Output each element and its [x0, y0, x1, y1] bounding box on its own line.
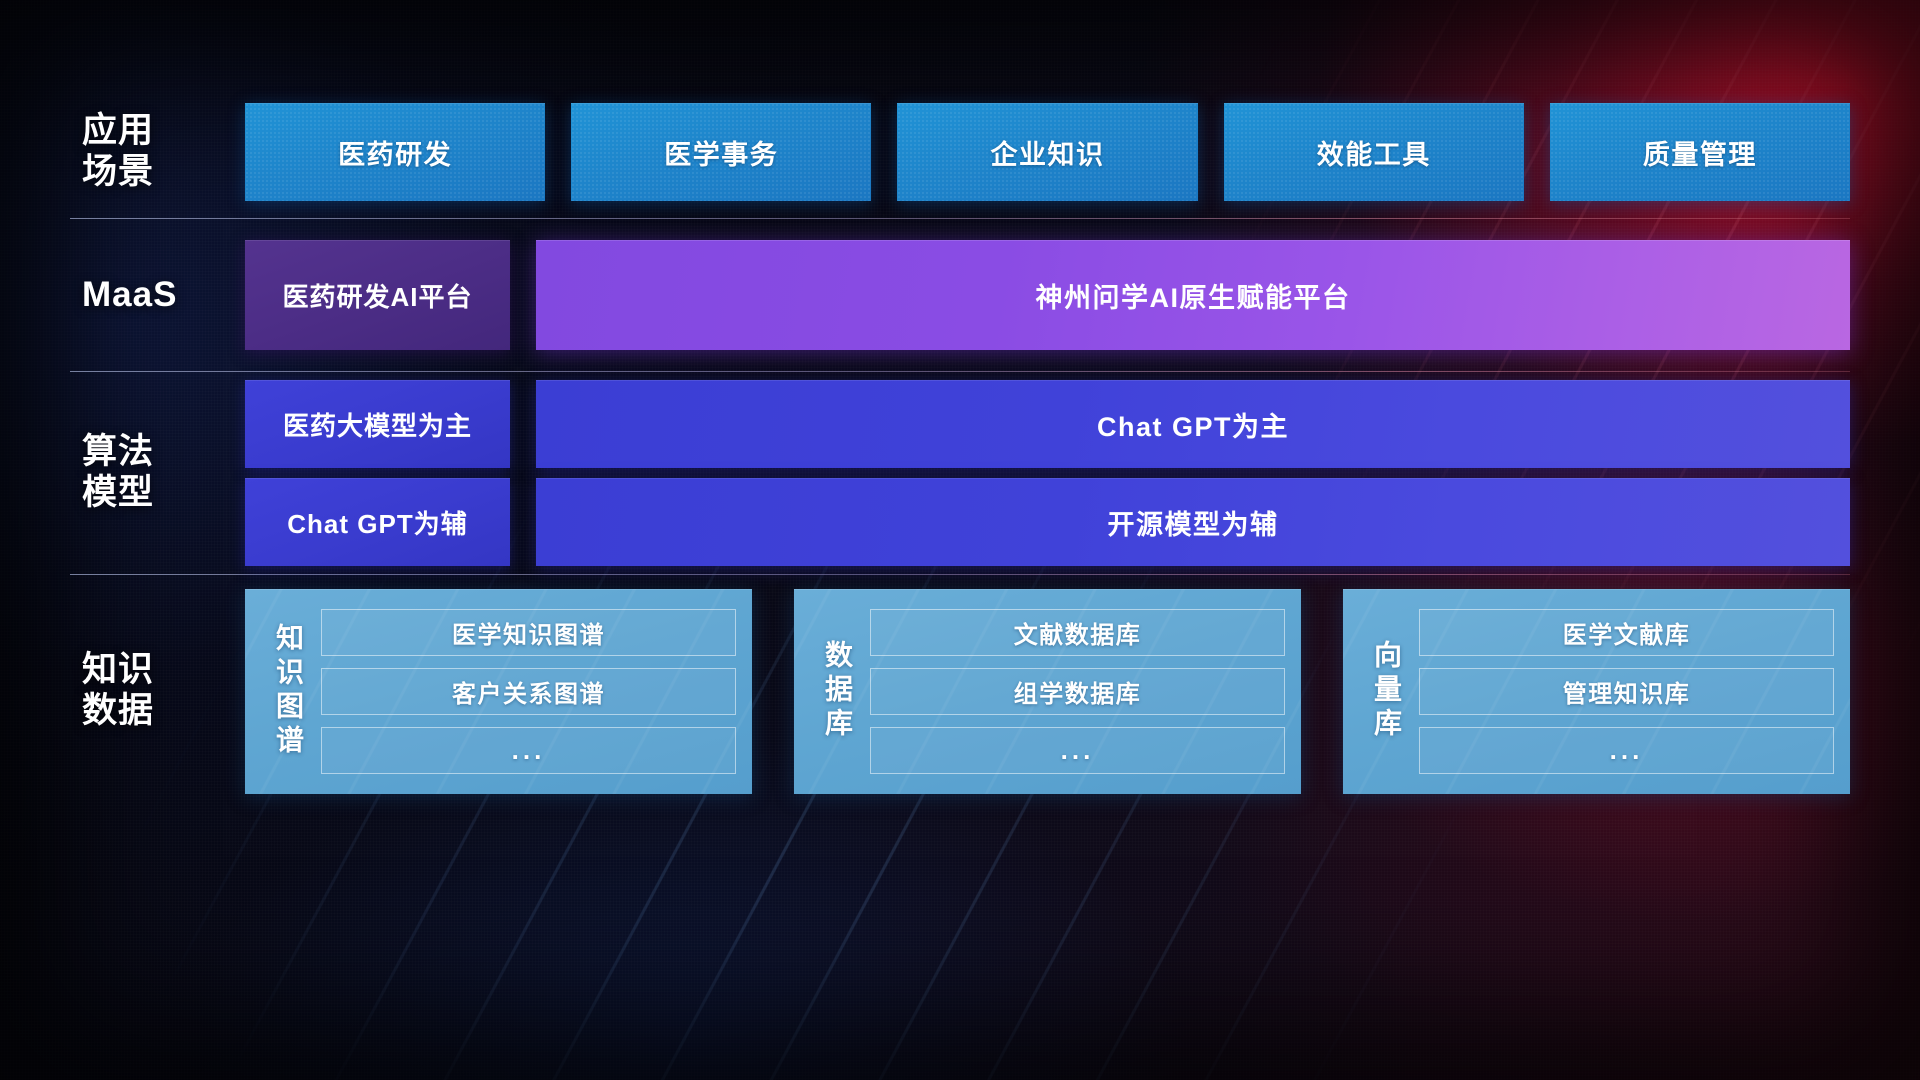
row-algorithm-model: 算法 模型 医药大模型为主 Chat GPT为主 Chat GPT为辅 开源模型… [70, 372, 1850, 574]
knowledge-panel-vector-store[interactable]: 向量库 医学文献库 管理知识库 ... [1343, 589, 1850, 794]
knowledge-panel-group: 知识图谱 医学知识图谱 客户关系图谱 ... 数据库 文献数据库 组学数据库 .… [245, 589, 1850, 794]
maas-box-drug-rd-ai-platform[interactable]: 医药研发AI平台 [245, 240, 510, 350]
algorithm-line-secondary: Chat GPT为辅 开源模型为辅 [245, 478, 1850, 566]
knowledge-item-customer-relation-graph[interactable]: 客户关系图谱 [321, 668, 736, 715]
maas-box-shenzhou-wenxue-platform[interactable]: 神州问学AI原生赋能平台 [536, 240, 1850, 350]
row-knowledge-data: 知识 数据 知识图谱 医学知识图谱 客户关系图谱 ... 数据库 文献数据库 组… [70, 575, 1850, 807]
scenario-box-quality-management[interactable]: 质量管理 [1550, 103, 1850, 201]
knowledge-item-list: 文献数据库 组学数据库 ... [870, 603, 1285, 780]
knowledge-item-literature-database[interactable]: 文献数据库 [870, 609, 1285, 656]
row-label-application-scenarios: 应用 场景 [70, 111, 245, 192]
knowledge-item-management-knowledge-store[interactable]: 管理知识库 [1419, 668, 1834, 715]
row-label-algorithm-model: 算法 模型 [70, 432, 245, 513]
knowledge-item-omics-database[interactable]: 组学数据库 [870, 668, 1285, 715]
knowledge-item-medical-knowledge-graph[interactable]: 医学知识图谱 [321, 609, 736, 656]
algorithm-box-opensource-secondary[interactable]: 开源模型为辅 [536, 478, 1850, 566]
knowledge-panel-label-database: 数据库 [804, 603, 870, 780]
scenario-box-enterprise-knowledge[interactable]: 企业知识 [897, 103, 1197, 201]
knowledge-item-more-database[interactable]: ... [870, 727, 1285, 774]
scenario-box-medical-affairs[interactable]: 医学事务 [571, 103, 871, 201]
knowledge-item-medical-literature-store[interactable]: 医学文献库 [1419, 609, 1834, 656]
algorithm-box-chatgpt-secondary[interactable]: Chat GPT为辅 [245, 478, 510, 566]
algorithm-box-pharma-llm-primary[interactable]: 医药大模型为主 [245, 380, 510, 468]
knowledge-item-list: 医学知识图谱 客户关系图谱 ... [321, 603, 736, 780]
algorithm-box-chatgpt-primary[interactable]: Chat GPT为主 [536, 380, 1850, 468]
row-maas: MaaS 医药研发AI平台 神州问学AI原生赋能平台 [70, 219, 1850, 371]
row-label-maas: MaaS [70, 275, 245, 316]
scenario-box-group: 医药研发 医学事务 企业知识 效能工具 质量管理 [245, 103, 1850, 201]
scenario-box-efficiency-tools[interactable]: 效能工具 [1224, 103, 1524, 201]
knowledge-item-list: 医学文献库 管理知识库 ... [1419, 603, 1834, 780]
row-application-scenarios: 应用 场景 医药研发 医学事务 企业知识 效能工具 质量管理 [70, 86, 1850, 218]
knowledge-panel-label-knowledge-graph: 知识图谱 [255, 603, 321, 780]
diagram-canvas: 应用 场景 医药研发 医学事务 企业知识 效能工具 质量管理 MaaS 医药研发… [0, 0, 1920, 1080]
knowledge-item-more-vector[interactable]: ... [1419, 727, 1834, 774]
scenario-box-drug-rd[interactable]: 医药研发 [245, 103, 545, 201]
algorithm-box-group: 医药大模型为主 Chat GPT为主 Chat GPT为辅 开源模型为辅 [245, 380, 1850, 566]
algorithm-line-primary: 医药大模型为主 Chat GPT为主 [245, 380, 1850, 468]
row-label-knowledge-data: 知识 数据 [70, 650, 245, 731]
architecture-stack: 应用 场景 医药研发 医学事务 企业知识 效能工具 质量管理 MaaS 医药研发… [70, 86, 1850, 807]
knowledge-panel-database[interactable]: 数据库 文献数据库 组学数据库 ... [794, 589, 1301, 794]
knowledge-panel-knowledge-graph[interactable]: 知识图谱 医学知识图谱 客户关系图谱 ... [245, 589, 752, 794]
knowledge-panel-label-vector-store: 向量库 [1353, 603, 1419, 780]
maas-box-group: 医药研发AI平台 神州问学AI原生赋能平台 [245, 240, 1850, 350]
knowledge-item-more-graph[interactable]: ... [321, 727, 736, 774]
